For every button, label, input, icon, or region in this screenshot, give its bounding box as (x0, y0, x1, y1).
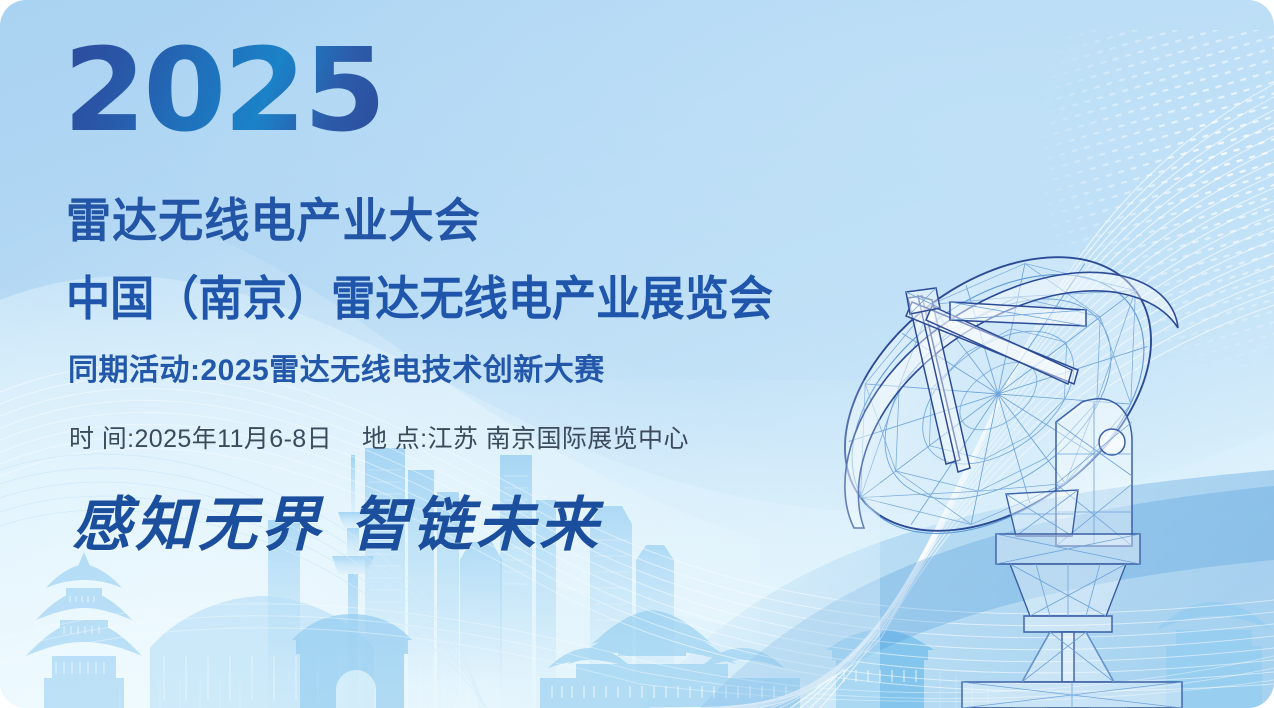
event-poster: 2025 雷达无线电产业大会 中国（南京）雷达无线电产业展览会 同期活动:202… (0, 0, 1274, 708)
event-slogan: 感知无界智链未来 (72, 495, 602, 554)
event-details: 时 间:2025年11月6-8日地 点:江苏 南京国际展览中心 (69, 425, 689, 454)
dish-reflector (810, 216, 1203, 587)
concurrent-event-subtitle: 同期活动:2025雷达无线电技术创新大赛 (68, 354, 605, 387)
year-2025: 2025 (63, 34, 383, 149)
exhibition-title: 中国（南京）雷达无线电产业展览会 (66, 274, 773, 325)
feed-support-legs (906, 296, 1078, 472)
pagoda-right (1156, 602, 1272, 708)
drive-box (1006, 490, 1078, 536)
pedestal (996, 534, 1140, 632)
venue-value: 江苏 南京国际展览中心 (428, 425, 689, 453)
conference-title: 雷达无线电产业大会 (66, 196, 481, 247)
satellite-dish-wireframe (810, 216, 1274, 708)
feed-horn (906, 288, 1086, 326)
base-legs (962, 632, 1182, 708)
venue-label: 地 点: (362, 425, 428, 453)
poster-content: 2025 雷达无线电产业大会 中国（南京）雷达无线电产业展览会 同期活动:202… (0, 0, 860, 708)
slogan-part-1: 感知无界 (72, 490, 324, 559)
dish-mount (1056, 399, 1132, 546)
slogan-part-2: 智链未来 (350, 490, 602, 559)
date-label: 时 间: (69, 425, 135, 453)
date-value: 2025年11月6-8日 (135, 425, 333, 453)
